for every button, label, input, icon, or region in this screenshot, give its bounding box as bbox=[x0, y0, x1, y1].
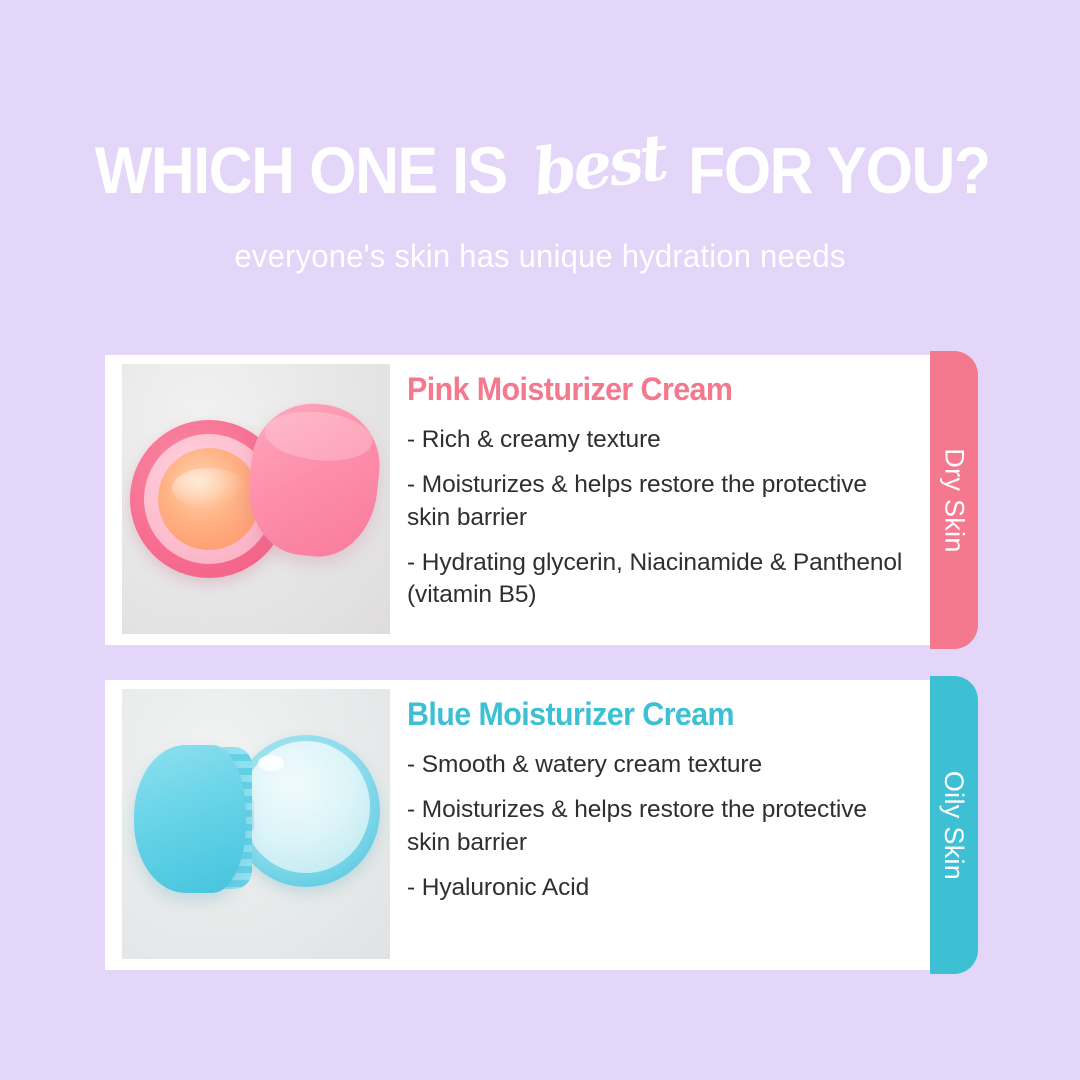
product-card-list: Dry Skin Pink Moisturizer Cream - Rich &… bbox=[105, 355, 975, 1005]
skin-type-tab-label: Dry Skin bbox=[939, 448, 970, 552]
product-title-blue: Blue Moisturizer Cream bbox=[407, 696, 883, 733]
product-details-pink: Pink Moisturizer Cream - Rich & creamy t… bbox=[390, 355, 930, 625]
product-feature: - Moisturizes & helps restore the protec… bbox=[407, 794, 908, 859]
product-card-pink[interactable]: Dry Skin Pink Moisturizer Cream - Rich &… bbox=[105, 355, 975, 645]
product-photo-pink bbox=[122, 364, 390, 634]
page-title: WHICH ONE IS best FOR YOU? bbox=[0, 128, 1080, 212]
pink-cream-icon bbox=[158, 448, 260, 550]
skin-type-tab-oily[interactable]: Oily Skin bbox=[930, 676, 978, 974]
blue-jar-lid-icon bbox=[134, 745, 246, 893]
headline-part-1: WHICH ONE IS bbox=[95, 137, 507, 203]
skin-type-tab-label: Oily Skin bbox=[939, 770, 970, 879]
product-card-blue[interactable]: Oily Skin Blue Moisturizer Cream - Smoot… bbox=[105, 680, 975, 970]
page-subtitle: everyone's skin has unique hydration nee… bbox=[16, 238, 1064, 275]
product-details-blue: Blue Moisturizer Cream - Smooth & watery… bbox=[390, 680, 930, 917]
product-feature: - Rich & creamy texture bbox=[407, 424, 908, 456]
product-feature: - Hydrating glycerin, Niacinamide & Pant… bbox=[407, 547, 908, 612]
product-feature: - Hyaluronic Acid bbox=[407, 872, 908, 904]
product-feature: - Smooth & watery cream texture bbox=[407, 749, 908, 781]
skin-type-tab-dry[interactable]: Dry Skin bbox=[930, 351, 978, 649]
blue-cream-icon bbox=[242, 741, 370, 873]
product-title-pink: Pink Moisturizer Cream bbox=[407, 371, 883, 408]
headline-script-word: best bbox=[525, 125, 675, 206]
product-photo-blue bbox=[122, 689, 390, 959]
product-feature: - Moisturizes & helps restore the protec… bbox=[407, 469, 908, 534]
page-header: WHICH ONE IS best FOR YOU? everyone's sk… bbox=[0, 0, 1080, 275]
headline-part-2: FOR YOU? bbox=[689, 137, 991, 203]
